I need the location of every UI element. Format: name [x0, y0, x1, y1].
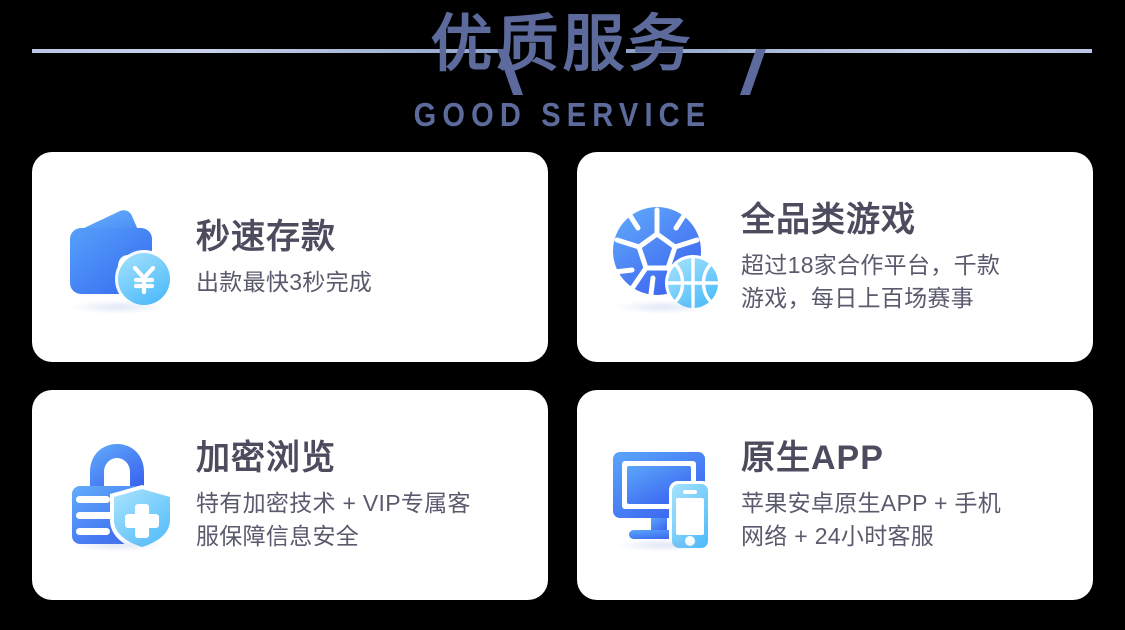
soccer-basketball-icon	[607, 198, 725, 316]
lock-shield-icon-art	[62, 436, 180, 554]
card-title: 原生APP	[741, 439, 1075, 478]
card-subtitle-line: 服保障信息安全	[196, 520, 530, 553]
card-title: 全品类游戏	[741, 201, 1075, 240]
card-subtitle-line: 苹果安卓原生APP + 手机	[741, 487, 1075, 520]
icon-shadow	[70, 300, 166, 314]
card-subtitle-line: 出款最快3秒完成	[196, 266, 530, 299]
card-text-block: 全品类游戏 超过18家合作平台，千款 游戏，每日上百场赛事	[741, 199, 1075, 314]
feature-card-grid: 秒速存款 出款最快3秒完成	[32, 152, 1093, 600]
card-subtitle-line: 特有加密技术 + VIP专属客	[196, 487, 530, 520]
card-title: 加密浏览	[196, 439, 530, 478]
feature-card-native-app[interactable]: 原生APP 苹果安卓原生APP + 手机 网络 + 24小时客服	[577, 390, 1093, 600]
wallet-yuan-icon	[62, 198, 180, 316]
page-title: 优质服务	[0, 8, 1125, 81]
card-subtitle: 特有加密技术 + VIP专属客 服保障信息安全	[196, 487, 530, 552]
monitor-phone-icon	[607, 436, 725, 554]
card-subtitle: 苹果安卓原生APP + 手机 网络 + 24小时客服	[741, 487, 1075, 552]
feature-card-games[interactable]: 全品类游戏 超过18家合作平台，千款 游戏，每日上百场赛事	[577, 152, 1093, 362]
icon-shadow	[615, 300, 711, 314]
icon-shadow	[70, 538, 166, 552]
good-service-banner: 优质服务 GOOD SERVICE	[0, 0, 1125, 630]
feature-card-encryption[interactable]: 加密浏览 特有加密技术 + VIP专属客 服保障信息安全	[32, 390, 548, 600]
icon-shadow	[615, 538, 711, 552]
card-subtitle-line: 网络 + 24小时客服	[741, 520, 1075, 553]
card-text-block: 加密浏览 特有加密技术 + VIP专属客 服保障信息安全	[196, 437, 530, 552]
lock-shield-icon	[62, 436, 180, 554]
card-subtitle-line: 游戏，每日上百场赛事	[741, 282, 1075, 315]
card-text-block: 秒速存款 出款最快3秒完成	[196, 216, 530, 299]
banner-header: 优质服务 GOOD SERVICE	[0, 0, 1125, 150]
page-subtitle: GOOD SERVICE	[68, 96, 1058, 134]
card-subtitle-line: 超过18家合作平台，千款	[741, 249, 1075, 282]
card-subtitle: 出款最快3秒完成	[196, 266, 530, 299]
card-title: 秒速存款	[196, 218, 530, 257]
feature-card-deposit[interactable]: 秒速存款 出款最快3秒完成	[32, 152, 548, 362]
monitor-phone-icon-art	[607, 436, 725, 554]
soccer-basketball-icon-art	[607, 198, 725, 316]
card-subtitle: 超过18家合作平台，千款 游戏，每日上百场赛事	[741, 249, 1075, 314]
wallet-yuan-icon-art	[62, 198, 180, 316]
card-text-block: 原生APP 苹果安卓原生APP + 手机 网络 + 24小时客服	[741, 437, 1075, 552]
